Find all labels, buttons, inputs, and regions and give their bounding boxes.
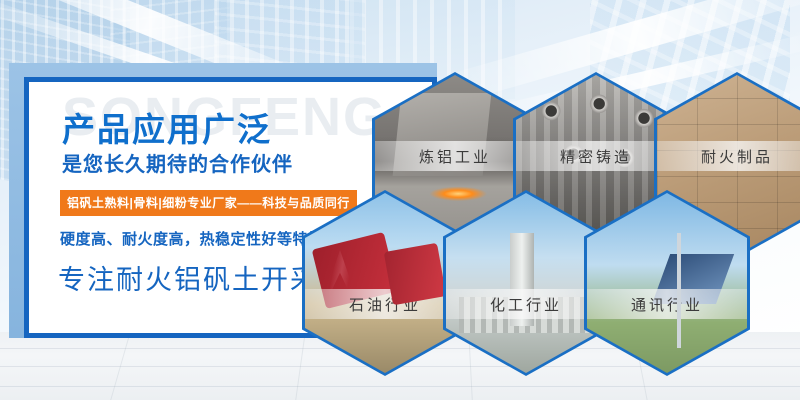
hexagon-label: 精密铸造 <box>516 141 676 171</box>
promotional-banner: SONGFENG 产品应用广泛 是您长久期待的合作伙伴 铝矾土熟料|骨料|细粉专… <box>0 0 800 400</box>
hexagon-label: 耐火制品 <box>657 141 800 171</box>
orange-tagline-bar: 铝矾土熟料|骨料|细粉专业厂家——科技与品质同行 <box>60 190 357 216</box>
hexagon-label: 化工行业 <box>446 289 606 319</box>
floor-line <box>0 386 800 387</box>
feature-line: 硬度高、耐火度高，热稳定性好等特性 <box>60 228 324 249</box>
hexagon-label: 通讯行业 <box>587 289 747 319</box>
hexagon-label: 炼铝工业 <box>375 141 535 171</box>
headline: 产品应用广泛 <box>62 103 272 151</box>
subheadline: 是您长久期待的合作伙伴 <box>62 148 293 177</box>
